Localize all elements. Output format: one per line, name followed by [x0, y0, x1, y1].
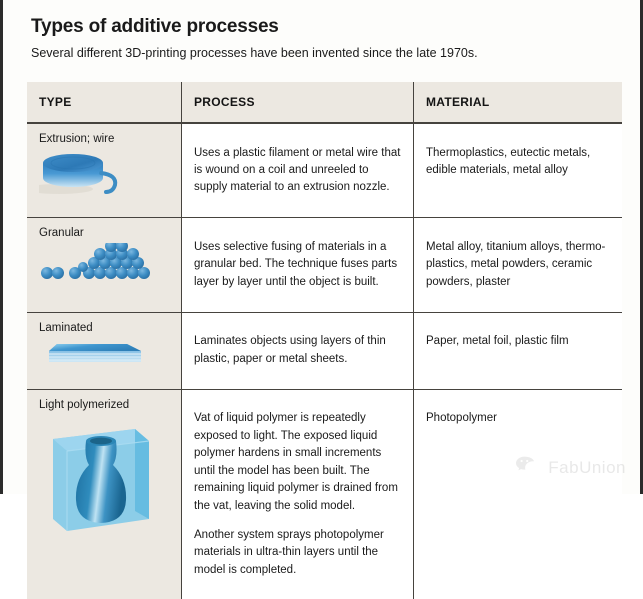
header-cell-type: TYPE	[27, 82, 182, 122]
material-cell-extrusion: Thermoplastics, eutectic metals, edible …	[414, 124, 622, 217]
layered-sheets-icon	[39, 338, 171, 377]
powder-granules-icon	[39, 243, 171, 288]
table-row: Extrusion; wire	[27, 124, 622, 218]
type-label: Laminated	[39, 322, 171, 334]
material-cell-granular: Metal alloy, titanium alloys, thermo-pla…	[414, 218, 622, 311]
header-cell-material: MATERIAL	[414, 82, 622, 122]
additive-processes-table: TYPE PROCESS MATERIAL Extrusion; wire	[27, 82, 622, 599]
content-area: Types of additive processes Several diff…	[27, 0, 630, 494]
infographic-page: Types of additive processes Several diff…	[0, 0, 643, 494]
header-label-process: PROCESS	[194, 95, 255, 109]
material-cell-light-polymerized: Photopolymer	[414, 390, 622, 599]
material-text: Metal alloy, titanium alloys, thermo-pla…	[426, 239, 612, 291]
material-text: Photopolymer	[426, 410, 612, 427]
type-label: Light polymerized	[39, 399, 171, 411]
type-cell-laminated: Laminated	[27, 313, 182, 389]
process-paragraph: Another system sprays photopolymer mater…	[194, 527, 403, 579]
process-paragraph: Vat of liquid polymer is repeatedly expo…	[194, 410, 403, 515]
wechat-icon	[515, 455, 541, 480]
page-title: Types of additive processes	[31, 16, 279, 38]
table-row: Granular	[27, 218, 622, 312]
type-cell-granular: Granular	[27, 218, 182, 311]
table-row: Light polymerized	[27, 390, 622, 599]
header-label-material: MATERIAL	[426, 95, 490, 109]
watermark-text: FabUnion	[548, 458, 626, 478]
page-subtitle: Several different 3D-printing processes …	[31, 46, 478, 60]
header-cell-process: PROCESS	[182, 82, 414, 122]
process-cell-extrusion: Uses a plastic filament or metal wire th…	[182, 124, 414, 217]
material-text: Paper, metal foil, plastic film	[426, 333, 612, 350]
type-cell-extrusion: Extrusion; wire	[27, 124, 182, 217]
type-label: Extrusion; wire	[39, 133, 171, 145]
watermark: FabUnion	[515, 455, 626, 480]
resin-vat-vase-icon	[39, 415, 171, 546]
process-paragraph: Laminates objects using layers of thin p…	[194, 333, 403, 368]
type-cell-light-polymerized: Light polymerized	[27, 390, 182, 599]
process-paragraph: Uses selective fusing of materials in a …	[194, 239, 403, 291]
process-cell-granular: Uses selective fusing of materials in a …	[182, 218, 414, 311]
table-row: Laminated	[27, 313, 622, 390]
type-label: Granular	[39, 227, 171, 239]
process-cell-laminated: Laminates objects using layers of thin p…	[182, 313, 414, 389]
process-paragraph: Uses a plastic filament or metal wire th…	[194, 145, 403, 197]
table-header-row: TYPE PROCESS MATERIAL	[27, 82, 622, 124]
header-label-type: TYPE	[39, 95, 72, 109]
material-text: Thermoplastics, eutectic metals, edible …	[426, 145, 612, 180]
process-cell-light-polymerized: Vat of liquid polymer is repeatedly expo…	[182, 390, 414, 599]
material-cell-laminated: Paper, metal foil, plastic film	[414, 313, 622, 389]
filament-spool-icon	[39, 149, 171, 200]
